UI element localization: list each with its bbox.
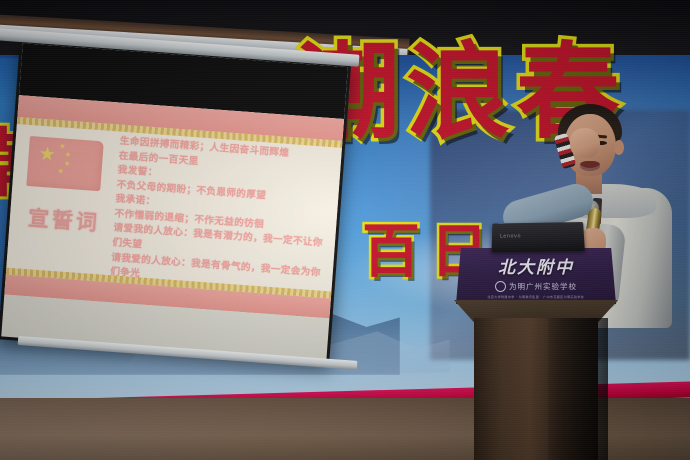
speaker-mouth bbox=[580, 161, 600, 171]
school-emblem-icon bbox=[495, 281, 506, 292]
flag-small-star-2: ★ bbox=[64, 152, 71, 159]
school-logo-row: 为明广州实验学校 bbox=[495, 281, 577, 292]
banner-char-1: 浪 bbox=[406, 44, 510, 142]
slide-oath-title: 宣誓词 bbox=[27, 202, 101, 237]
school-name-tiny: 北京大学附属中学 · 为明教育集团 · 广州市花都区为明实验学校 bbox=[488, 294, 585, 299]
school-name-sub: 为明广州实验学校 bbox=[509, 281, 577, 292]
flag-small-star-4: ★ bbox=[57, 168, 64, 175]
projector-screen: ★ ★ ★ ★ ★ 宣誓词 生命因拼搏而精彩；人生因奋斗而辉煌 在最后的一百天里… bbox=[0, 40, 351, 364]
banner-sub-char-1: 百 bbox=[362, 222, 420, 280]
chinese-flag-icon: ★ ★ ★ ★ ★ bbox=[26, 136, 103, 191]
speaker-raised-fist bbox=[570, 128, 600, 158]
projector-screen-surface: ★ ★ ★ ★ ★ 宣誓词 生命因拼搏而精彩；人生因奋斗而辉煌 在最后的一百天里… bbox=[1, 43, 348, 360]
laptop: Lenovo bbox=[492, 222, 585, 252]
podium: 北大附中 为明广州实验学校 北京大学附属中学 · 为明教育集团 · 广州市花都区… bbox=[452, 248, 620, 460]
podium-column-shadow bbox=[548, 318, 608, 460]
podium-school-sign: 北大附中 为明广州实验学校 北京大学附属中学 · 为明教育集团 · 广州市花都区… bbox=[466, 252, 606, 300]
flag-small-star-1: ★ bbox=[59, 143, 66, 150]
presentation-slide: ★ ★ ★ ★ ★ 宣誓词 生命因拼搏而精彩；人生因奋斗而辉煌 在最后的一百天里… bbox=[4, 95, 344, 318]
photo-scene: 潮 浪 春 百 日 誓 师 潮 ★ ★ ★ ★ ★ bbox=[0, 0, 690, 460]
slide-body-text: 生命因拼搏而精彩；人生因奋斗而辉煌 在最后的一百天里 我发誓： 不负父母的期盼；… bbox=[110, 135, 336, 296]
flag-small-star-3: ★ bbox=[64, 161, 71, 168]
school-name-main: 北大附中 bbox=[498, 253, 574, 278]
speaker-ear bbox=[614, 140, 624, 155]
laptop-brand-label: Lenovo bbox=[500, 233, 521, 239]
flag-big-star: ★ bbox=[38, 145, 56, 165]
